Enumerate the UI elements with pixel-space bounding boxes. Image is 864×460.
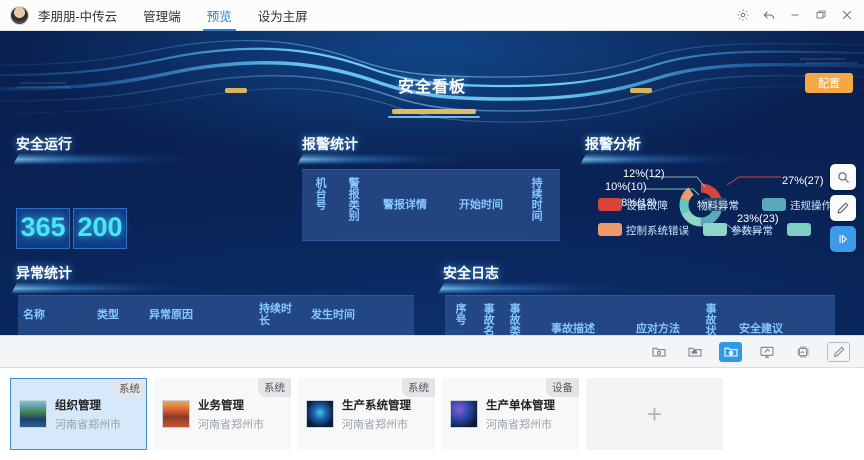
safety-log-header-row: 序号 事故名称 事故类型 事故描述 应对方法 事故状态 安全建议 [445,295,835,335]
section-title-safety-log: 安全日志 [443,263,499,283]
search-icon[interactable] [830,164,856,190]
floating-action-buttons [830,164,856,252]
bottom-toolbar [0,335,864,368]
dashboard-canvas: 安全看板 配置 安全运行 365 200 报警统计 机台号 警报类别 警报详情 … [0,31,864,335]
exception-col-name: 名称 [18,296,92,335]
maximize-icon[interactable] [808,2,834,28]
nav-tab-preview[interactable]: 预览 [207,0,232,31]
undo-icon[interactable] [756,2,782,28]
card-thumbnail [19,400,47,428]
folder-settings-icon[interactable] [647,342,670,362]
safety-log-col-advice: 安全建议 [723,296,799,335]
card-thumbnail [450,400,478,428]
edit-icon[interactable] [830,195,856,221]
pencil-icon[interactable] [827,342,850,362]
config-button[interactable]: 配置 [805,73,853,93]
project-cards-strip: 系统 组织管理 河南省郑州市 系统 业务管理 河南省郑州市 系统 生产系统管理 … [0,368,864,460]
monitor-icon[interactable] [755,342,778,362]
donut-label-material: 12%(12) [623,168,665,180]
safety-log-col-accident-name: 事故名称 [475,296,501,335]
user-name: 李朋朋-中传云 [38,6,117,25]
shield-folder-icon[interactable] [719,342,742,362]
section-title-alarm-analysis: 报警分析 [585,134,641,154]
alarm-stats-col-duration: 持续时间 [520,170,552,240]
card-subtitle: 河南省郑州市 [198,416,264,432]
legend-label-material-abnormal: 物料异常 [697,198,739,213]
card-subtitle: 河南省郑州市 [55,416,121,432]
project-card-production-unit-management[interactable]: 设备 生产单体管理 河南省郑州市 [442,378,579,450]
card-title: 生产系统管理 [342,397,411,413]
alarm-stats-col-start-time: 开始时间 [442,170,520,240]
safe-run-number-2: 200 [73,208,127,249]
card-subtitle: 河南省郑州市 [486,416,555,432]
legend-chip-parameter-abnormal [703,223,727,236]
card-thumbnail [162,400,190,428]
exception-stats-table: 名称 类型 异常原因 持续时长 发生时间 热封组件 设备异常 加热管老化导致温度… [18,295,414,335]
project-card-business-management[interactable]: 系统 业务管理 河南省郑州市 [154,378,291,450]
card-badge: 设备 [546,378,579,397]
close-icon[interactable] [834,2,860,28]
safety-log-table: 序号 事故名称 事故类型 事故描述 应对方法 事故状态 安全建议 [445,295,835,335]
donut-label-control: 10%(10) [605,181,647,193]
card-badge: 系统 [113,379,146,398]
add-project-button[interactable]: + [586,378,723,450]
card-title: 生产单体管理 [486,397,555,413]
avatar[interactable] [10,6,29,25]
app-window: 李朋朋-中传云 管理端 预览 设为主屏 [0,0,864,460]
title-bar: 李朋朋-中传云 管理端 预览 设为主屏 [0,0,864,31]
section-title-exception-stats: 异常统计 [16,263,72,283]
card-badge: 系统 [258,378,291,397]
exception-col-type: 类型 [92,296,144,335]
card-body: 组织管理 河南省郑州市 [55,397,121,432]
project-card-organization-management[interactable]: 系统 组织管理 河南省郑州市 [10,378,147,450]
exception-stats-header-row: 名称 类型 异常原因 持续时长 发生时间 [18,295,414,335]
alarm-stats-col-alarm-detail: 警报详情 [368,170,442,240]
project-card-production-system-management[interactable]: 系统 生产系统管理 河南省郑州市 [298,378,435,450]
safety-log-col-description: 事故描述 [527,296,619,335]
dashboard-title: 安全看板 [0,73,864,97]
legend-label-equipment-fault: 设备故障 [626,198,668,213]
card-body: 生产系统管理 河南省郑州市 [342,397,411,432]
legend-chip-equipment-fault [598,198,622,211]
section-underline-safe-run [13,153,209,165]
play-icon[interactable] [830,226,856,252]
section-underline-safety-log [438,282,636,294]
legend-chip-violation-operation [762,198,786,211]
card-body: 业务管理 河南省郑州市 [198,397,264,432]
section-underline-exception-stats [11,282,209,294]
section-underline-alarm-stats [297,153,483,165]
alarm-stats-table: 机台号 警报类别 警报详情 开始时间 持续时间 [302,169,560,241]
alarm-analysis-chart: 12%(12) 10%(10) 27%(27) 18%(18) 23%(23) … [585,161,855,246]
legend-label-parameter-abnormal: 参数异常 [731,223,773,238]
cloud-folder-icon[interactable] [683,342,706,362]
card-body: 生产单体管理 河南省郑州市 [486,397,555,432]
chip-icon[interactable] [791,342,814,362]
exception-col-duration: 持续时长 [254,296,306,335]
legend-chip-extra [787,223,811,236]
alarm-stats-header-row: 机台号 警报类别 警报详情 开始时间 持续时间 [302,169,560,241]
legend-chip-control-system-error [598,223,622,236]
donut-label-equipment: 27%(27) [782,175,824,187]
nav-tab-admin[interactable]: 管理端 [143,0,181,31]
exception-col-occur-time: 发生时间 [306,296,406,335]
card-subtitle: 河南省郑州市 [342,416,411,432]
safety-log-col-response: 应对方法 [619,296,697,335]
alarm-stats-col-alarm-type: 警报类别 [338,170,368,240]
card-thumbnail [306,400,334,428]
safe-run-counter: 365 200 [16,208,127,249]
card-title: 业务管理 [198,397,264,413]
card-title: 组织管理 [55,397,121,413]
safety-log-col-status: 事故状态 [697,296,723,335]
section-title-alarm-stats: 报警统计 [302,134,358,154]
section-title-safe-run: 安全运行 [16,134,72,154]
legend-label-control-system-error: 控制系统错误 [626,223,689,238]
minimize-icon[interactable] [782,2,808,28]
safety-log-col-accident-type: 事故类型 [501,296,527,335]
alarm-stats-col-machine-no: 机台号 [302,170,338,240]
nav-tab-set-main-screen[interactable]: 设为主屏 [258,0,308,31]
gear-icon[interactable] [730,2,756,28]
exception-col-reason: 异常原因 [144,296,254,335]
safety-log-col-seq: 序号 [445,296,475,335]
window-controls [730,2,864,28]
legend-label-violation-operation: 违规操作 [790,198,832,213]
safe-run-number-1: 365 [16,208,70,249]
card-badge: 系统 [402,378,435,397]
